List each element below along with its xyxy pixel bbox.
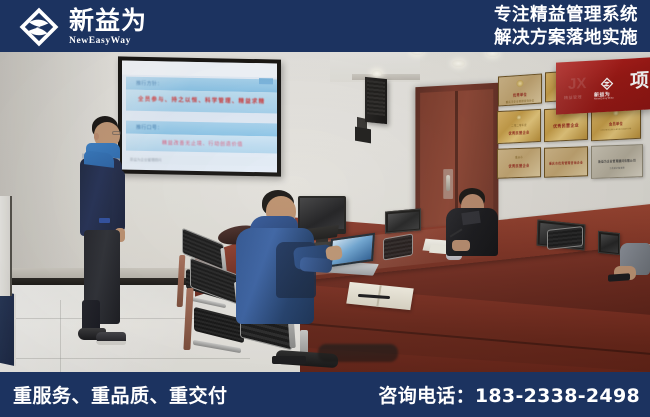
- screen-glare: [122, 61, 277, 173]
- plaque-subtitle: 二零二零年度: [498, 122, 540, 128]
- plaque-subtitle: 工商登记备案牌: [592, 166, 642, 171]
- banner-ghost-mark: JX: [568, 75, 586, 93]
- door-handle-icon[interactable]: [446, 175, 450, 191]
- plaque-row3-2: 重庆市优秀管理咨询企业: [544, 146, 588, 178]
- slogan-line-1: 专注精益管理系统: [494, 4, 638, 27]
- footer-values-text: 重服务、重品质、重交付: [13, 381, 228, 408]
- banner-big-char: 项: [630, 71, 649, 91]
- banner-ghost-sub: 精益管理: [564, 94, 582, 101]
- plaque-emblem-icon: [517, 115, 522, 120]
- plaque-subtitle: CHONGQING ASSOCIATION: [592, 128, 640, 133]
- speaker-grill: [367, 80, 385, 116]
- plaque-emblem-icon: [517, 80, 524, 87]
- speaker-bracket-lower: [355, 127, 371, 144]
- flip-up-display-left[interactable]: [385, 208, 421, 233]
- plaque-row2-1: 二零二零年度 优秀民营企业: [497, 109, 541, 144]
- plaque-row3-3: 新益为企业管理顾问有限公司 工商登记备案牌: [591, 144, 643, 179]
- wall-speaker: [365, 77, 387, 124]
- logo-brand-en: NewEasyWay: [69, 36, 147, 46]
- presenter-shoe-sole: [96, 341, 126, 345]
- plaque-subtitle: 重庆市: [498, 154, 540, 159]
- logo-text: 新益为 NewEasyWay: [69, 8, 147, 45]
- ceiling-downlight-icon: [372, 70, 382, 77]
- diamond-logo-icon: [18, 6, 60, 48]
- logo[interactable]: 新益为 NewEasyWay: [18, 6, 147, 48]
- plaque-title: 新益为企业管理顾问有限公司: [592, 158, 642, 164]
- plaque-title: 优秀民营企业: [498, 162, 540, 168]
- floor-tile-line: [0, 358, 250, 359]
- banner-diamond-logo-icon: [600, 76, 614, 91]
- right-person-hands: [452, 240, 470, 251]
- right-person-collar: [461, 211, 480, 225]
- seated-man-forearm: [300, 257, 333, 273]
- logo-brand-cn: 新益为: [69, 8, 147, 34]
- plaque-row1-1: 优秀单位 重庆市企业管理咨询协会: [498, 73, 542, 106]
- meeting-room-photo: 推行方针： 全员参与、持之以恒、科学管理、精益求精 推行口号： 精益改善无止境、…: [0, 0, 650, 417]
- flip-up-display-far-right[interactable]: [598, 231, 620, 255]
- ceiling-downlight-icon: [452, 60, 465, 67]
- display-screen: [388, 211, 419, 231]
- chair-backrest: [547, 226, 583, 250]
- projection-screen-image: 推行方针： 全员参与、持之以恒、科学管理、精益求精 推行口号： 精益改善无止境、…: [122, 61, 277, 173]
- projection-screen: 推行方针： 全员参与、持之以恒、科学管理、精益求精 推行口号： 精益改善无止境、…: [118, 56, 281, 176]
- presenter-pocket-detail: [99, 218, 110, 223]
- plaque-subtitle: 重庆市企业管理咨询协会: [499, 98, 541, 105]
- presenter-ear: [94, 133, 99, 140]
- presenter-arm: [112, 170, 125, 232]
- header-bar: 新益为 NewEasyWay 专注精益管理系统 解决方案落地实施: [0, 0, 650, 52]
- plaque-title: 优秀民营企业: [545, 122, 587, 130]
- cable-clutter: [318, 344, 398, 362]
- whiteboard-edge: [0, 196, 12, 296]
- slogan-line-2: 解决方案落地实施: [494, 27, 638, 50]
- footer-phone-text[interactable]: 咨询电话：183-2338-2498: [378, 381, 640, 408]
- presenter-glasses-icon: [112, 131, 121, 135]
- power-strip: [272, 356, 306, 364]
- plaque-title: 重庆市优秀管理咨询企业: [545, 160, 587, 165]
- navy-panel-edge: [0, 290, 16, 367]
- footer-row: 重服务、重品质、重交付 咨询电话：183-2338-2498: [0, 372, 650, 417]
- display-screen: [601, 234, 618, 253]
- header-slogan: 专注精益管理系统 解决方案落地实施: [494, 4, 638, 51]
- screenshot-root: 推行方针： 全员参与、持之以恒、科学管理、精益求精 推行口号： 精益改善无止境、…: [0, 0, 650, 417]
- red-banner: JX 精益管理 新益为 NewEasyWay 项: [556, 57, 650, 114]
- plaque-row3-1: 重庆市 优秀民营企业: [497, 147, 541, 179]
- plaque-title: 优秀民营企业: [498, 129, 540, 136]
- plaque-title: 会员单位: [592, 120, 640, 128]
- footer-bar: 重服务、重品质、重交付 咨询电话：183-2338-2498: [0, 372, 650, 417]
